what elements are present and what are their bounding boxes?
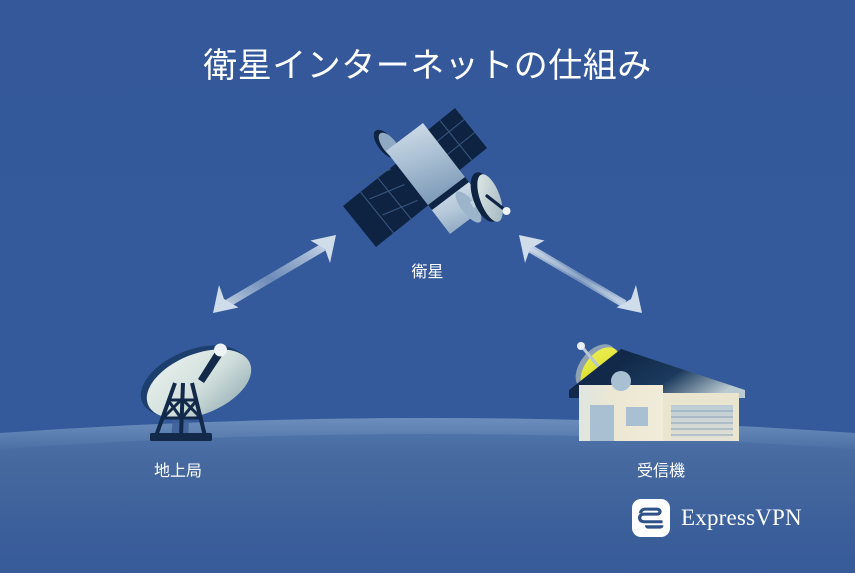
expressvpn-logo-icon [632,499,670,537]
brand-name: ExpressVPN [681,505,802,531]
house-door [590,405,614,441]
house-window [626,407,648,426]
brand-lockup: ExpressVPN [632,499,802,537]
node-label-ground-station: 地上局 [78,461,278,483]
node-label-satellite: 衛星 [0,262,855,284]
node-label-receiver: 受信機 [561,461,761,483]
diagram-canvas: 衛星インターネットの仕組み 衛星 地上局 受信機 ExpressVPN [0,0,855,573]
page-title: 衛星インターネットの仕組み [0,44,855,88]
house-gable-window [611,371,631,391]
